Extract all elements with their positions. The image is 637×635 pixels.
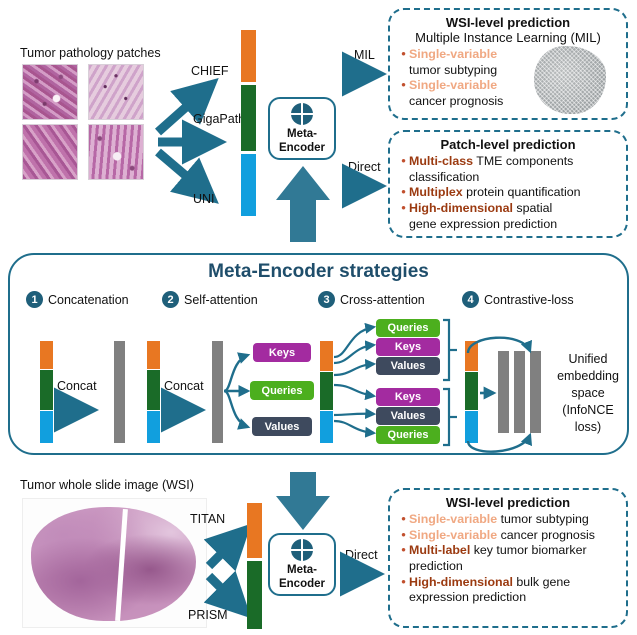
card-bullet: • Single-variable tumor subtyping [398,512,618,528]
chip-keys: Keys [376,338,440,356]
encoder-label-prism: PRISM [188,608,228,623]
tumor-patches-label: Tumor pathology patches [20,46,161,61]
card-bullet: • High-dimensional spatial [398,201,618,217]
card-bullet: • Single-variable cancer prognosis [398,528,618,544]
encoder-label-titan: TITAN [190,512,225,527]
bullet-dot: • [398,527,409,543]
bullet-continuation: prediction [398,559,618,575]
strategy-number-badge: 2 [162,291,179,308]
meta-encoder-label-line1: Meta- [287,128,317,140]
pathology-patch-2 [88,64,144,120]
bullet-highlight: Single-variable [409,47,497,61]
chip-values: Values [376,407,440,425]
card-bullet: • Multi-label key tumor biomarker [398,543,618,559]
bullet-highlight: High-dimensional [409,575,513,589]
pathology-patch-3 [22,124,78,180]
concatenated-vector-bar [114,341,125,443]
card-bullet: • Single-variable [398,47,548,63]
card-bullet: • High-dimensional bulk gene [398,575,618,591]
route-label-mil: MIL [354,48,375,63]
chip-queries: Queries [250,381,314,400]
chip-keys: Keys [253,343,311,362]
wsi-image-label: Tumor whole slide image (WSI) [20,478,194,493]
cross-attention-brackets [440,317,460,449]
bullet-continuation: expression prediction [398,590,618,606]
direct-arrow [348,178,392,194]
strategy-label: Concatenation [48,293,129,307]
encoder-label-gigapath: GigaPath [193,112,245,127]
bullet-dot: • [398,542,409,558]
card-bullet: • Multi-class TME components [398,154,618,170]
gigapath-embedding-bar [241,85,256,151]
bullet-continuation: classification [398,170,618,186]
bullet-highlight: Single-variable [409,78,497,92]
bullet-highlight: High-dimensional [409,201,513,215]
bullet-continuation: tumor subtyping [398,63,548,79]
figure-canvas: Tumor pathology patches CHIEF GigaPath U… [0,0,637,635]
strategy-label: Self-attention [184,293,258,307]
unified-line-3: space [550,385,626,402]
uni-embedding-bar [241,154,256,216]
card-subtitle: Multiple Instance Learning (MIL) [398,30,618,45]
bullet-dot: • [398,200,409,216]
route-label-direct: Direct [348,160,381,175]
chip-label: Queries [388,322,429,334]
strategies-downlink-arrow [272,470,334,532]
input-bar-orange [40,341,53,369]
contrastive-loop-arrows [460,331,550,455]
card-title: Patch-level prediction [398,137,618,152]
bullet-highlight: Multi-label [409,543,470,557]
wsi-level-prediction-card-top: WSI-level prediction Multiple Instance L… [388,8,628,120]
bullet-rest: bulk gene [513,575,570,589]
bullet-continuation: gene expression prediction [398,217,618,233]
strategy-item-concatenation: 1 Concatenation [26,291,129,308]
meta-encoder-label-line1: Meta- [287,564,317,576]
chip-label: Values [391,360,426,372]
unified-line-4: (InfoNCE loss) [550,402,626,436]
strategy-number-badge: 4 [462,291,479,308]
concat-label: Concat [57,379,97,394]
input-bar-orange [147,341,160,369]
concat-arrow [58,401,106,419]
wsi-level-prediction-card-bottom: WSI-level prediction • Single-variable t… [388,488,628,628]
meta-encoder-bottom[interactable]: Meta- Encoder [268,533,336,596]
bullet-highlight: Single-variable [409,512,497,526]
direct-arrow-bottom [346,566,390,582]
bullet-rest: key tumor biomarker [470,543,586,557]
chip-keys: Keys [376,388,440,406]
chip-label: Queries [262,385,303,397]
chip-label: Values [265,421,300,433]
chip-label: Keys [395,391,421,403]
pathology-patch-1 [22,64,78,120]
strategy-label: Cross-attention [340,293,425,307]
titan-embedding-bar [247,503,262,558]
top-encoder-arrows [150,70,255,190]
strategies-uplink-arrow [272,164,334,244]
bullet-highlight: Single-variable [409,528,497,542]
encoder-label-chief: CHIEF [191,64,229,79]
input-bar-blue [40,411,53,443]
globe-icon [291,539,313,561]
concat-arrow [165,401,213,419]
unified-embedding-text: Unified embedding space (InfoNCE loss) [550,351,626,435]
input-bar-green [40,370,53,410]
bullet-highlight: Multiplex [409,185,463,199]
bullet-rest: TME components [473,154,573,168]
bullet-dot: • [398,153,409,169]
card-title: WSI-level prediction [398,15,618,30]
mil-arrow [348,66,392,82]
chief-embedding-bar [241,30,256,82]
card-bullet: • Multiplex protein quantification [398,185,618,201]
concat-label: Concat [164,379,204,394]
bullet-rest: tumor subtyping [497,512,589,526]
strategy-item-cross-attention: 3 Cross-attention [318,291,425,308]
wsi-tissue-thumbnail [534,46,606,114]
chip-queries: Queries [376,319,440,337]
strategies-title: Meta-Encoder strategies [10,261,627,283]
card-title: WSI-level prediction [398,495,618,510]
meta-encoder-strategies-panel: Meta-Encoder strategies 1 Concatenation … [8,253,629,455]
bullet-dot: • [398,184,409,200]
strategy-item-self-attention: 2 Self-attention [162,291,258,308]
meta-encoder-top[interactable]: Meta- Encoder [268,97,336,160]
bullet-continuation: cancer prognosis [398,94,548,110]
route-label-direct-bottom: Direct [345,548,378,563]
globe-icon [291,103,313,125]
bullet-dot: • [398,511,409,527]
chip-label: Keys [269,347,295,359]
unified-line-2: embedding [550,368,626,385]
encoder-label-uni: UNI [193,192,215,207]
meta-encoder-label-line2: Encoder [279,578,325,590]
strategy-number-badge: 1 [26,291,43,308]
chip-label: Keys [395,341,421,353]
bullet-rest: spatial [513,201,552,215]
strategy-number-badge: 3 [318,291,335,308]
strategy-label: Contrastive-loss [484,293,574,307]
bullet-highlight: Multi-class [409,154,473,168]
input-bar-blue [147,411,160,443]
chip-queries: Queries [376,426,440,444]
input-bar-green [147,370,160,410]
chip-values: Values [376,357,440,375]
bullet-rest: protein quantification [463,185,581,199]
patch-level-prediction-card: Patch-level prediction • Multi-class TME… [388,130,628,238]
pathology-patch-4 [88,124,144,180]
meta-encoder-label-line2: Encoder [279,142,325,154]
bullet-dot: • [398,77,409,93]
chip-label: Queries [388,429,429,441]
unified-line-1: Unified [550,351,626,368]
prism-embedding-bar [247,561,262,629]
bullet-dot: • [398,574,409,590]
strategy-item-contrastive-loss: 4 Contrastive-loss [462,291,574,308]
chip-label: Values [391,410,426,422]
card-bullet: • Single-variable [398,78,548,94]
wsi-histology-image [22,498,207,628]
bullet-dot: • [398,46,409,62]
chip-values: Values [252,417,312,436]
bullet-rest: cancer prognosis [497,528,595,542]
